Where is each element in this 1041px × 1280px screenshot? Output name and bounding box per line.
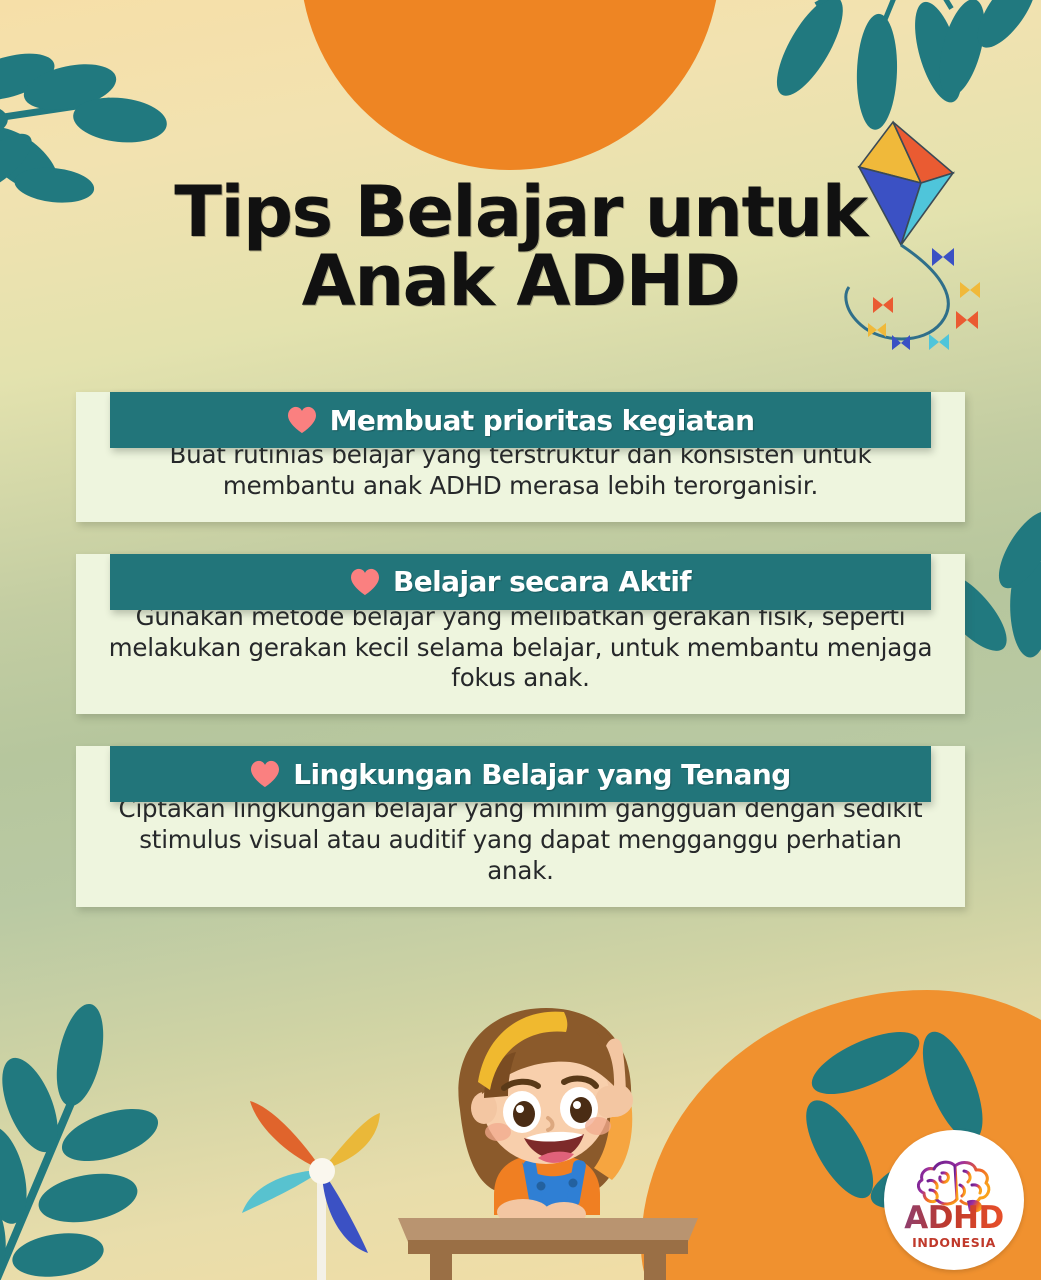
- tip-card-header: Lingkungan Belajar yang Tenang: [110, 746, 931, 802]
- page-title: Tips Belajar untuk Anak ADHD: [0, 178, 1041, 317]
- logo-country: INDONESIA: [912, 1235, 996, 1250]
- logo-badge[interactable]: ADHD INDONESIA: [884, 1130, 1024, 1270]
- poster-canvas: Tips Belajar untuk Anak ADHD Membuat pri…: [0, 0, 1041, 1280]
- tip-card: Membuat prioritas kegiatan Buat rutinias…: [0, 392, 1041, 522]
- orange-circle-top: [300, 0, 720, 170]
- title-line-2: Anak ADHD: [0, 247, 1041, 316]
- logo-name: ADHD: [904, 1203, 1003, 1234]
- leaf-branch-icon: [0, 1000, 235, 1280]
- tip-card-heading: Membuat prioritas kegiatan: [330, 404, 755, 437]
- girl-at-desk-illustration: [398, 990, 698, 1280]
- heart-icon: [250, 760, 280, 788]
- tip-card-header: Belajar secara Aktif: [110, 554, 931, 610]
- pinwheel-icon: [232, 1085, 412, 1280]
- tip-card: Belajar secara Aktif Gunakan metode bela…: [0, 554, 1041, 715]
- tips-card-list: Membuat prioritas kegiatan Buat rutinias…: [0, 392, 1041, 939]
- tip-card-heading: Belajar secara Aktif: [393, 565, 691, 598]
- tip-card-header: Membuat prioritas kegiatan: [110, 392, 931, 448]
- title-line-1: Tips Belajar untuk: [0, 178, 1041, 247]
- heart-icon: [287, 406, 317, 434]
- tip-card-heading: Lingkungan Belajar yang Tenang: [293, 758, 790, 791]
- heart-icon: [350, 568, 380, 596]
- tip-card: Lingkungan Belajar yang Tenang Ciptakan …: [0, 746, 1041, 907]
